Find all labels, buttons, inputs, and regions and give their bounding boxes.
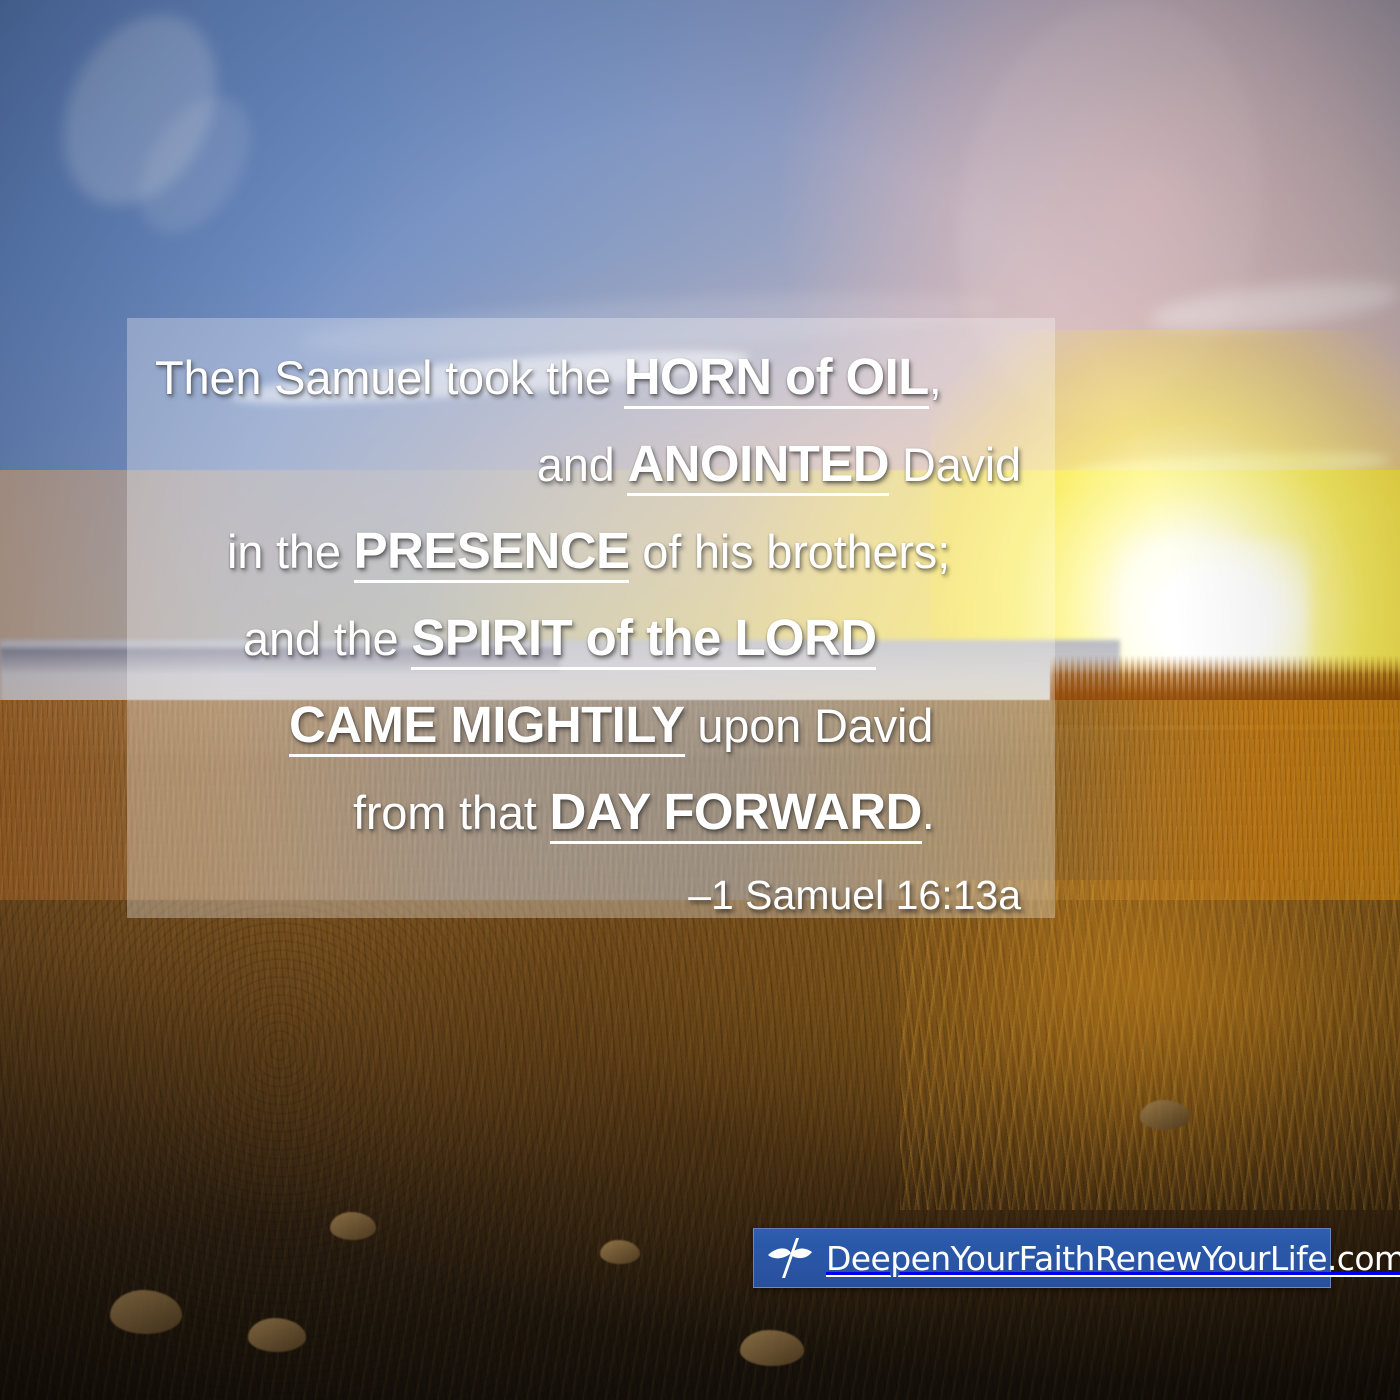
quote-emphasis: HORN of OIL: [624, 348, 929, 409]
scripture-attribution: –1 Samuel 16:13a: [149, 872, 1033, 919]
quote-overlay-panel: Then Samuel took the HORN of OIL, and AN…: [127, 318, 1055, 918]
quote-text: upon David: [685, 699, 934, 752]
quote-text: and: [537, 438, 628, 491]
quote-line: Then Samuel took the HORN of OIL,: [149, 334, 1033, 421]
quote-text: of his brothers;: [629, 525, 950, 578]
scripture-image-canvas: Then Samuel took the HORN of OIL, and AN…: [0, 0, 1400, 1400]
quote-emphasis: CAME MIGHTILY: [289, 696, 685, 757]
website-url-label[interactable]: DeepenYourFaithRenewYourLife.com: [826, 1239, 1400, 1278]
quote-text: ,: [929, 351, 942, 404]
quote-line: CAME MIGHTILY upon David: [149, 682, 1033, 769]
quote-text: from that: [353, 786, 550, 839]
quote-text: .: [922, 786, 935, 839]
quote-emphasis: ANOINTED: [627, 435, 889, 496]
quote-line: and ANOINTED David: [149, 421, 1033, 508]
lit-grass-clumps: [900, 880, 1400, 1210]
quote-text: Then Samuel took the: [155, 351, 624, 404]
website-banner[interactable]: DeepenYourFaithRenewYourLife.com: [753, 1228, 1331, 1288]
rock: [600, 1240, 640, 1264]
rock: [1140, 1100, 1190, 1130]
quote-line: from that DAY FORWARD.: [149, 769, 1033, 856]
quote-line: in the PRESENCE of his brothers;: [149, 508, 1033, 595]
quote-line: and the SPIRIT of the LORD: [149, 595, 1033, 682]
quote-text: in the: [227, 525, 354, 578]
quote-text: David: [889, 438, 1021, 491]
rock: [330, 1212, 376, 1240]
quote-emphasis: SPIRIT of the LORD: [411, 609, 876, 670]
rock: [248, 1318, 306, 1352]
quote-emphasis: DAY FORWARD: [550, 783, 922, 844]
quote-emphasis: PRESENCE: [354, 522, 630, 583]
dove-icon: [766, 1236, 814, 1280]
quote-text: and the: [243, 612, 411, 665]
